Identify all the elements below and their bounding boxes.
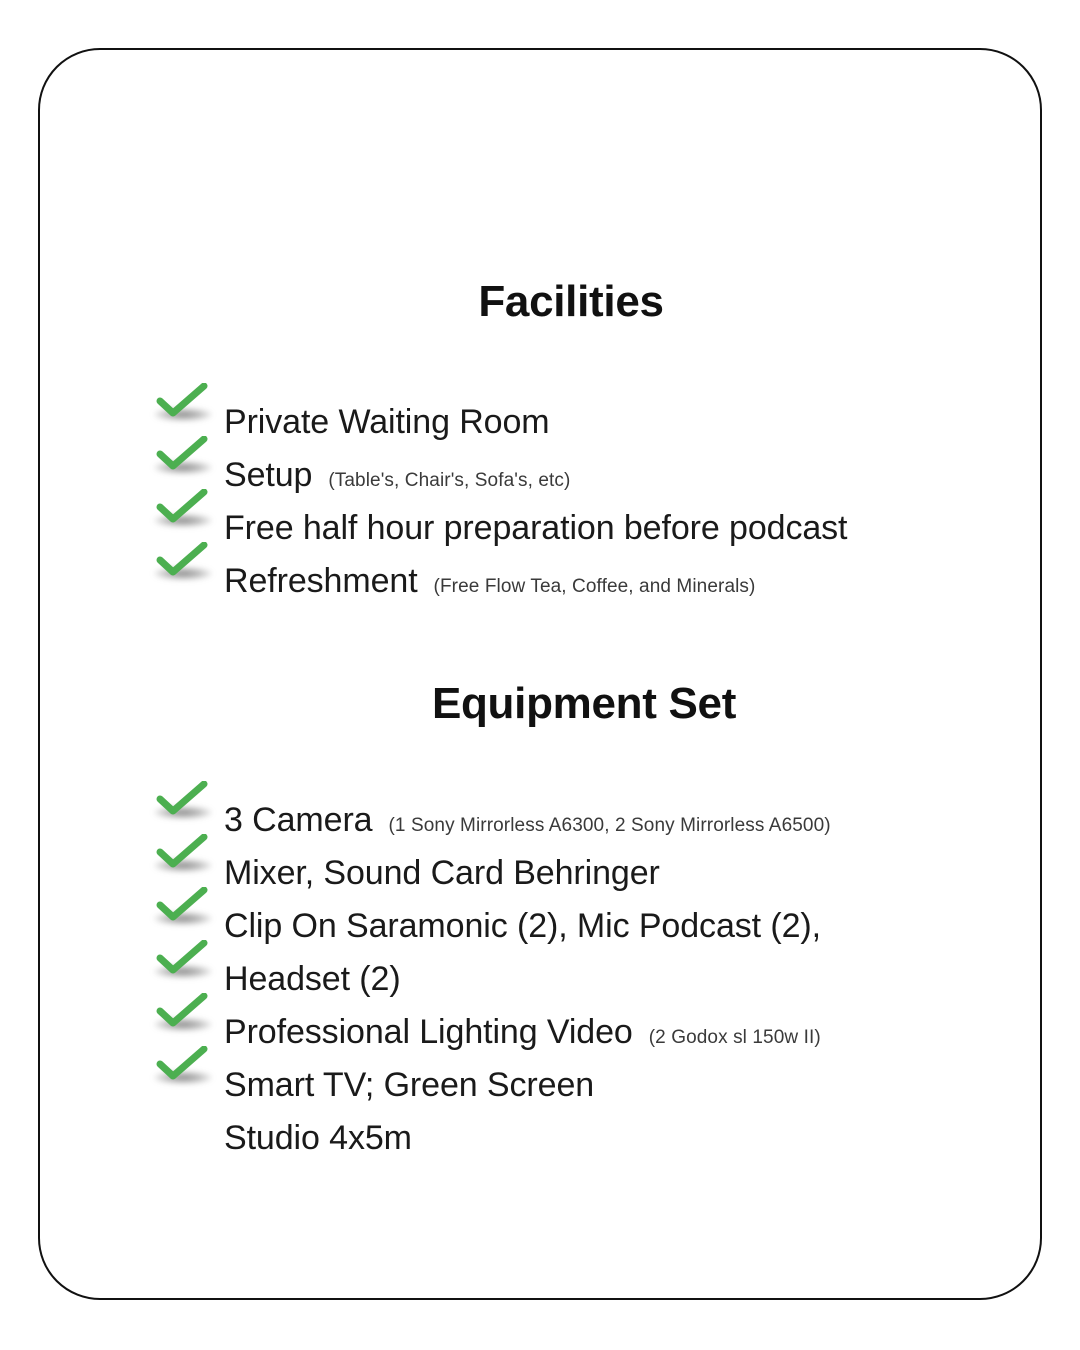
list-item: Clip On Saramonic (2), Mic Podcast (2), (144, 884, 1044, 937)
list-item: Studio 4x5m (144, 1096, 1044, 1149)
check-icon (144, 884, 224, 937)
list-item: Headset (2) (144, 937, 1044, 990)
list-item-label: Refreshment (224, 555, 418, 608)
check-icon (144, 539, 224, 592)
list-item: 3 Camera (1 Sony Mirrorless A6300, 2 Son… (144, 778, 1044, 831)
list-item: Refreshment (Free Flow Tea, Coffee, and … (144, 539, 1044, 592)
check-icon (144, 1043, 224, 1096)
check-icon (144, 990, 224, 1043)
section-title-facilities: Facilities (40, 274, 1080, 330)
facilities-list: Private Waiting Room Setup (Table's, Cha… (144, 380, 1044, 592)
check-icon (144, 831, 224, 884)
content-card: Facilities Private Waiting Room (38, 48, 1042, 1300)
list-item: Free half hour preparation before podcas… (144, 486, 1044, 539)
list-item: Mixer, Sound Card Behringer (144, 831, 1044, 884)
check-icon (144, 778, 224, 831)
section-title-equipment: Equipment Set (40, 676, 1080, 732)
check-icon (144, 937, 224, 990)
list-item: Smart TV; Green Screen (144, 1043, 1044, 1096)
list-item: Professional Lighting Video (2 Godox sl … (144, 990, 1044, 1043)
list-item-label: Studio 4x5m (224, 1112, 412, 1165)
list-item-note: (Free Flow Tea, Coffee, and Minerals) (434, 560, 756, 613)
check-icon (144, 486, 224, 539)
list-item: Private Waiting Room (144, 380, 1044, 433)
check-icon (144, 380, 224, 433)
equipment-list: 3 Camera (1 Sony Mirrorless A6300, 2 Son… (144, 778, 1044, 1149)
list-item: Setup (Table's, Chair's, Sofa's, etc) (144, 433, 1044, 486)
check-icon (144, 433, 224, 486)
page-root: Facilities Private Waiting Room (0, 0, 1080, 1350)
check-icon-placeholder (144, 1096, 224, 1149)
